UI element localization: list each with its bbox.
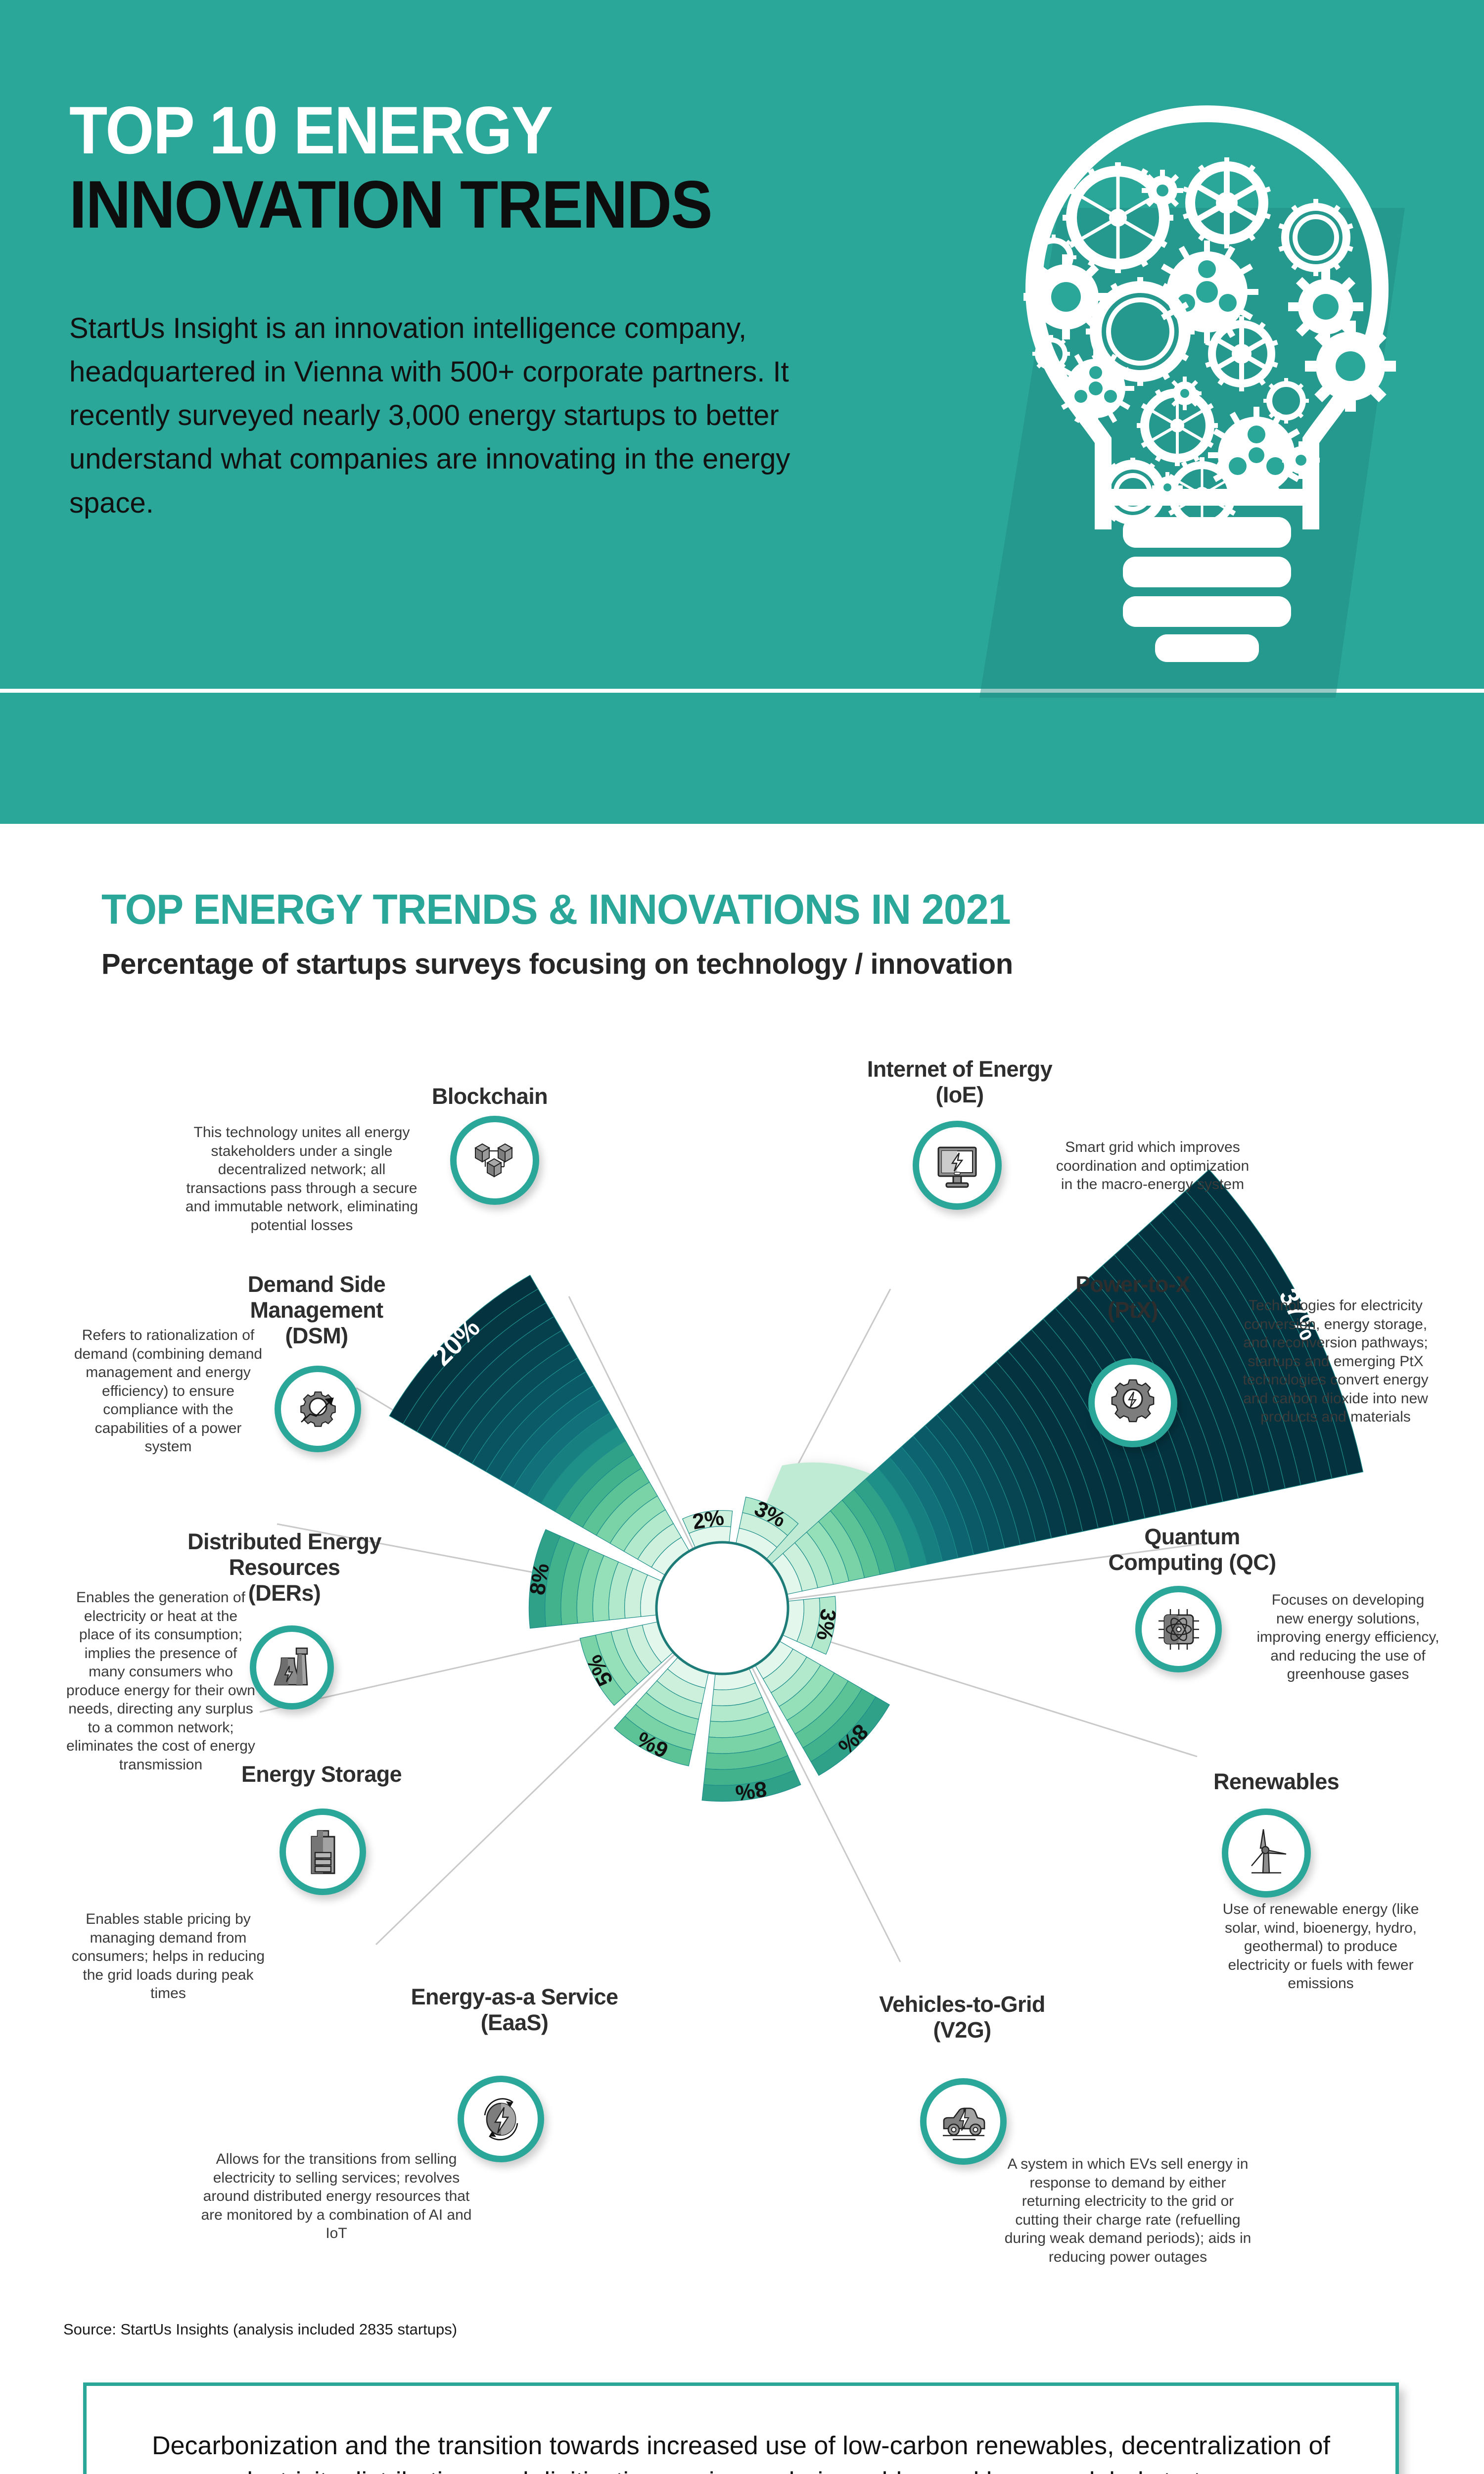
segment-value-label: 8% bbox=[734, 1776, 768, 1805]
battery-icon bbox=[296, 1825, 350, 1879]
gear-bolt-icon bbox=[1105, 1375, 1160, 1430]
node-icon-ptx[interactable] bbox=[1088, 1358, 1177, 1447]
segment-value-label: 2% bbox=[691, 1505, 726, 1534]
node-desc-eaas: Allows for the transitions from selling … bbox=[198, 2150, 475, 2243]
node-icon-qc[interactable] bbox=[1135, 1586, 1222, 1672]
node-title-ptx: Power-to-X (PtX) bbox=[1029, 1272, 1237, 1323]
hero-lower-band bbox=[0, 693, 1484, 824]
page-title-line2: INNOVATION TRENDS bbox=[69, 171, 712, 238]
segment-value-label: 8% bbox=[525, 1562, 554, 1596]
node-desc-ptx: Technologies for electricity conversion,… bbox=[1232, 1296, 1439, 1427]
quantum-chip-icon bbox=[1152, 1602, 1206, 1657]
node-desc-storage: Enables stable pricing by managing deman… bbox=[69, 1910, 267, 2003]
node-desc-dsm: Refers to rationalization of demand (com… bbox=[69, 1326, 267, 1456]
chart-source: Source: StartUs Insights (analysis inclu… bbox=[63, 2321, 457, 2338]
infographic-page: TOP 10 ENERGY INNOVATION TRENDS StartUs … bbox=[0, 0, 1484, 2474]
node-icon-v2g[interactable] bbox=[920, 2078, 1007, 2165]
node-title-storage: Energy Storage bbox=[208, 1761, 435, 1787]
electric-car-icon bbox=[936, 2094, 991, 2149]
node-desc-qc: Focuses on developing new energy solutio… bbox=[1256, 1591, 1439, 1684]
node-icon-dsm[interactable] bbox=[275, 1366, 361, 1452]
node-desc-renewables: Use of renewable energy (like solar, win… bbox=[1212, 1900, 1430, 1993]
chart-subtitle: Percentage of startups surveys focusing … bbox=[101, 948, 1013, 981]
node-icon-ders[interactable] bbox=[250, 1625, 334, 1710]
node-title-ioe: Internet of Energy (IoE) bbox=[831, 1056, 1088, 1108]
node-desc-ioe: Smart grid which improves coordination a… bbox=[1049, 1138, 1256, 1194]
node-title-blockchain: Blockchain bbox=[386, 1084, 594, 1109]
key-takeaway-box: Decarbonization and the transition towar… bbox=[83, 2382, 1399, 2474]
chart-title: TOP ENERGY TRENDS & INNOVATIONS IN 2021 bbox=[101, 886, 1011, 934]
page-title-line1: TOP 10 ENERGY bbox=[69, 96, 552, 164]
node-title-eaas: Energy-as-a Service (EaaS) bbox=[376, 1984, 653, 2036]
power-plant-icon bbox=[265, 1640, 319, 1695]
node-icon-renewables[interactable] bbox=[1222, 1808, 1311, 1898]
node-icon-eaas[interactable] bbox=[458, 2076, 544, 2162]
node-icon-storage[interactable] bbox=[279, 1808, 366, 1895]
bolt-cycle-icon bbox=[473, 2092, 529, 2147]
key-takeaway-text: Decarbonization and the transition towar… bbox=[128, 2428, 1354, 2474]
hero-description: StartUs Insight is an innovation intelli… bbox=[69, 307, 831, 525]
blockchain-cubes-icon bbox=[467, 1133, 522, 1188]
chart-hub bbox=[656, 1542, 788, 1674]
node-desc-v2g: A system in which EVs sell energy in res… bbox=[999, 2155, 1256, 2266]
gear-arrow-icon bbox=[290, 1381, 346, 1437]
segment-value-label: 3% bbox=[812, 1607, 840, 1642]
node-desc-blockchain: This technology unites all energy stakeh… bbox=[178, 1123, 425, 1235]
lightbulb-with-gears-icon bbox=[960, 84, 1454, 698]
node-title-qc: Quantum Computing (QC) bbox=[1081, 1524, 1303, 1575]
node-icon-ioe[interactable] bbox=[913, 1121, 1002, 1210]
node-title-v2g: Vehicles-to-Grid (V2G) bbox=[843, 1992, 1081, 2043]
rose-segments bbox=[389, 1170, 1363, 1802]
monitor-bolt-icon bbox=[929, 1138, 985, 1193]
node-title-renewables: Renewables bbox=[1177, 1769, 1375, 1795]
node-desc-ders: Enables the generation of electricity or… bbox=[64, 1588, 257, 1774]
wind-turbine-icon bbox=[1239, 1825, 1294, 1881]
node-icon-blockchain[interactable] bbox=[450, 1116, 539, 1205]
